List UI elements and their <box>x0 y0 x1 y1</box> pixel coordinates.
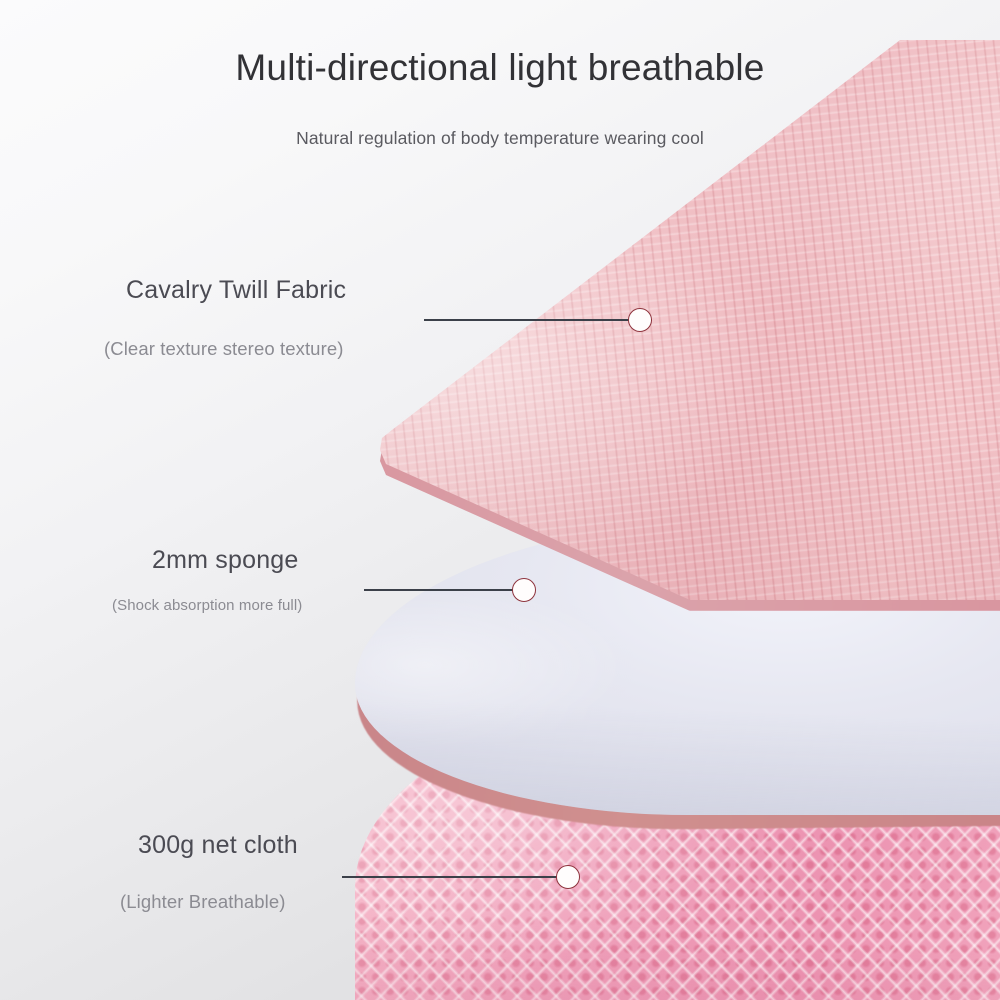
page-title: Multi-directional light breathable <box>0 46 1000 90</box>
callout-net-cloth: 300g net cloth (Lighter Breathable) <box>120 830 590 930</box>
page-subtitle: Natural regulation of body temperature w… <box>0 126 1000 150</box>
callout-label: 2mm sponge <box>152 545 299 575</box>
callout-sublabel: (Lighter Breathable) <box>120 890 286 914</box>
callout-leader-line <box>342 876 572 878</box>
callout-dot-icon <box>512 578 536 602</box>
callout-label: 300g net cloth <box>138 830 298 860</box>
callout-sublabel: (Clear texture stereo texture) <box>104 337 343 361</box>
callout-dot-icon <box>628 308 652 332</box>
callout-label: Cavalry Twill Fabric <box>126 275 346 305</box>
product-layer-infographic: Multi-directional light breathable Natur… <box>0 0 1000 1000</box>
callout-cavalry-twill-fabric: Cavalry Twill Fabric (Clear texture ster… <box>104 275 664 375</box>
callout-dot-icon <box>556 865 580 889</box>
callout-sponge: 2mm sponge (Shock absorption more full) <box>112 545 552 625</box>
callout-sublabel: (Shock absorption more full) <box>112 596 302 616</box>
callout-leader-line <box>364 589 524 591</box>
callout-leader-line <box>424 319 652 321</box>
